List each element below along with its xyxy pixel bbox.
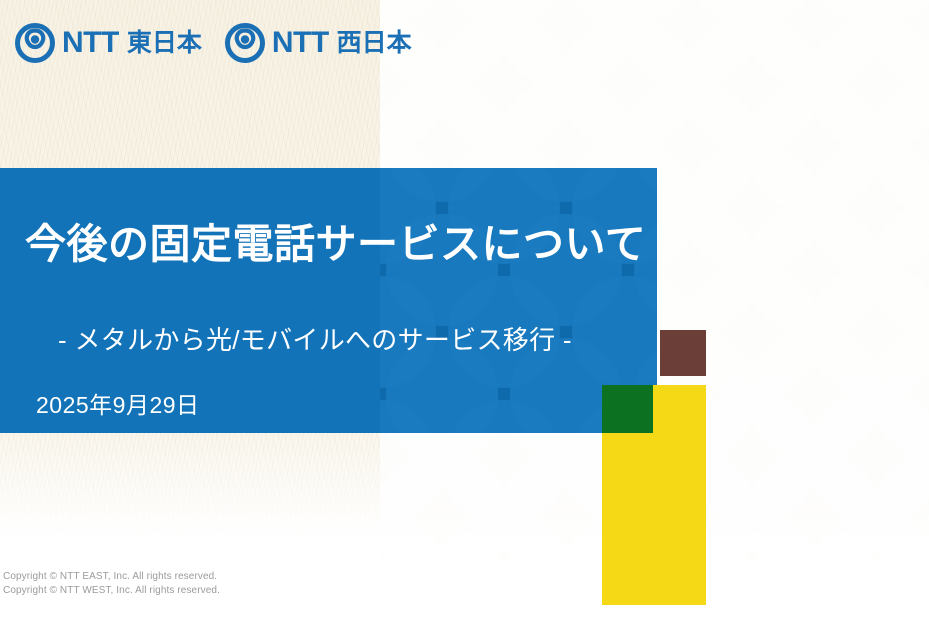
ntt-east-region-label: 東日本 — [125, 31, 202, 56]
ntt-west-region-label: 西日本 — [335, 31, 412, 56]
copyright-east-line: Copyright © NTT EAST, Inc. All rights re… — [3, 570, 220, 584]
slide-title: 今後の固定電話サービスについて — [25, 222, 645, 267]
copyright-west-line: Copyright © NTT WEST, Inc. All rights re… — [3, 584, 220, 598]
slide-date: 2025年9月29日 — [36, 386, 200, 420]
ntt-wordmark: NTT — [272, 28, 329, 58]
ntt-east-logo: NTT 東日本 — [14, 22, 202, 64]
ntt-wordmark: NTT — [62, 28, 119, 58]
copyright-footer: Copyright © NTT EAST, Inc. All rights re… — [3, 570, 220, 597]
green-square-decoration — [602, 385, 653, 433]
ntt-logo-mark — [224, 22, 266, 64]
ntt-logo-mark — [14, 22, 56, 64]
brown-square-decoration — [660, 330, 706, 376]
ntt-west-logo: NTT 西日本 — [224, 22, 412, 64]
logo-group: NTT 東日本 NTT 西日本 — [14, 22, 412, 64]
presentation-title-slide: 今後の固定電話サービスについて - メタルから光/モバイルへのサービス移行 - … — [0, 0, 929, 619]
slide-subtitle: - メタルから光/モバイルへのサービス移行 - — [58, 320, 638, 357]
